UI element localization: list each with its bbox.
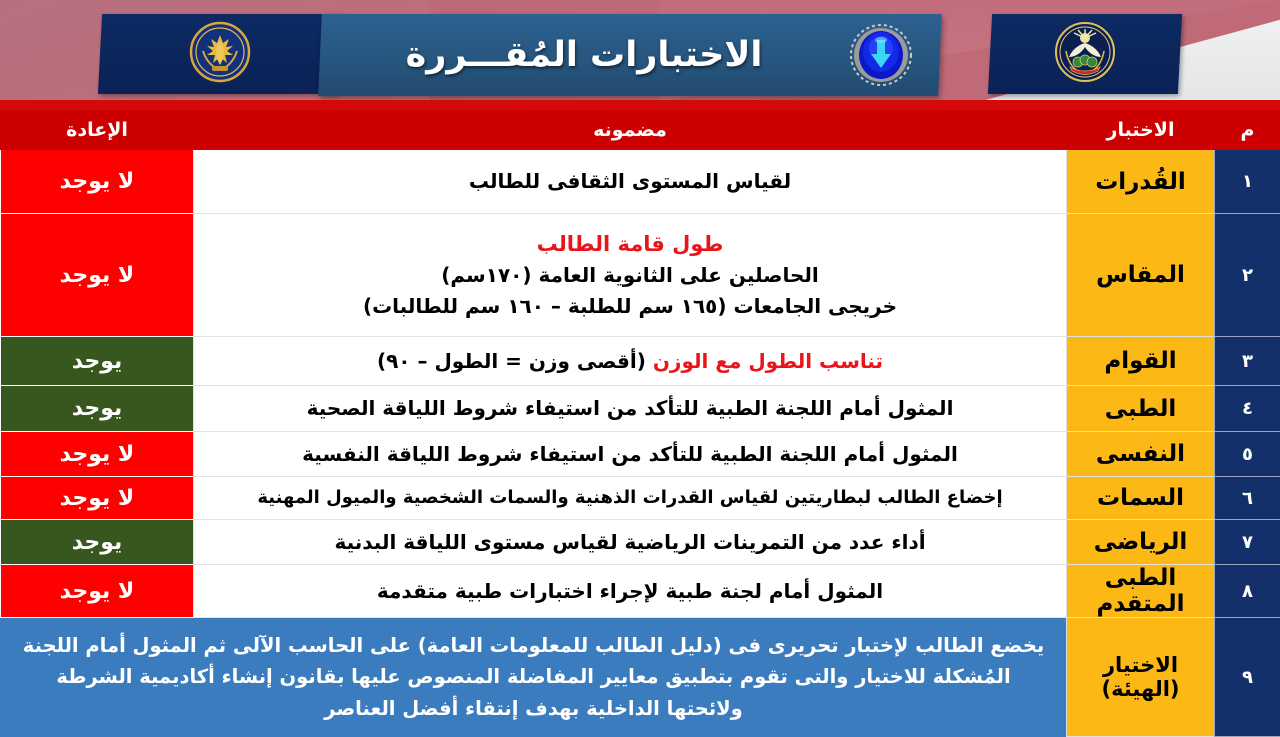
table-row: ٦ السمات إخضاع الطالب لبطاريتين لقياس ال… (1, 477, 1280, 520)
row-number: ٤ (1215, 386, 1280, 432)
column-header-exam: الاختبار (1067, 111, 1215, 150)
exam-content: لقياس المستوى الثقافى للطالب (194, 150, 1067, 214)
table-row: ١ القُدرات لقياس المستوى الثقافى للطالب … (1, 150, 1280, 214)
exam-name: القوام (1067, 337, 1215, 386)
exam-content: تناسب الطول مع الوزن (أقصى وزن = الطول –… (194, 337, 1067, 386)
row-number: ٨ (1215, 565, 1280, 618)
table-row: ٤ الطبى المثول أمام اللجنة الطبية للتأكد… (1, 386, 1280, 432)
row-number: ٦ (1215, 477, 1280, 520)
exam-content-line-2: الحاصلين على الثانوية العامة (١٧٠سم) (200, 260, 1060, 291)
table-row: ٨ الطبى المتقدم المثول أمام لجنة طبية لإ… (1, 565, 1280, 618)
exam-content-note: (أقصى وزن = الطول – ٩٠) (377, 349, 646, 373)
row-number: ٧ (1215, 520, 1280, 565)
exam-name: الطبى المتقدم (1067, 565, 1215, 618)
table-row: ٣ القوام تناسب الطول مع الوزن (أقصى وزن … (1, 337, 1280, 386)
column-header-content: مضمونه (194, 111, 1067, 150)
row-number: ٩ (1215, 618, 1280, 737)
exam-content-line-3: خريجى الجامعات (١٦٥ سم للطلبة – ١٦٠ سم ل… (200, 291, 1060, 322)
table-row: ٧ الرياضى أداء عدد من التمرينات الرياضية… (1, 520, 1280, 565)
ministry-of-interior-icon (1054, 21, 1116, 87)
exam-content: طول قامة الطالب الحاصلين على الثانوية ال… (194, 214, 1067, 337)
slide-root: الاختبارات المُقـــررة (0, 0, 1280, 720)
title-bar: الاختبارات المُقـــررة (318, 14, 942, 96)
row-number: ٣ (1215, 337, 1280, 386)
blue-circle-down-arrow-icon (850, 24, 912, 86)
repeat-status: يوجد (1, 337, 194, 386)
row-number: ١ (1215, 150, 1280, 214)
column-header-repeat: الإعادة (1, 111, 194, 150)
repeat-status: يوجد (1, 520, 194, 565)
page-title: الاختبارات المُقـــررة (348, 35, 850, 75)
exam-name: الطبى (1067, 386, 1215, 432)
exam-content-highlight: تناسب الطول مع الوزن (653, 349, 883, 373)
repeat-status: لا يوجد (1, 150, 194, 214)
table-row: ٩ الاختيار (الهيئة) يخضع الطالب لإختبار … (1, 618, 1280, 737)
repeat-status: لا يوجد (1, 477, 194, 520)
exam-content: أداء عدد من التمرينات الرياضية لقياس مست… (194, 520, 1067, 565)
repeat-status: لا يوجد (1, 432, 194, 477)
exam-content-line-1: طول قامة الطالب (200, 228, 1060, 261)
exam-content: المثول أمام لجنة طبية لإجراء اختبارات طب… (194, 565, 1067, 618)
exam-content: إخضاع الطالب لبطاريتين لقياس القدرات الذ… (194, 477, 1067, 520)
exam-name: النفسى (1067, 432, 1215, 477)
exam-content: يخضع الطالب لإختبار تحريرى فى (دليل الطا… (1, 618, 1067, 737)
exam-name: الاختيار (الهيئة) (1067, 618, 1215, 737)
repeat-status: لا يوجد (1, 214, 194, 337)
row-number: ٢ (1215, 214, 1280, 337)
repeat-status: يوجد (1, 386, 194, 432)
table-row: ٥ النفسى المثول أمام اللجنة الطبية للتأك… (1, 432, 1280, 477)
required-exams-table: م الاختبار مضمونه الإعادة ١ القُدرات لقي… (0, 110, 1280, 737)
right-emblem-panel (988, 14, 1182, 94)
exam-content: المثول أمام اللجنة الطبية للتأكد من استي… (194, 432, 1067, 477)
repeat-status: لا يوجد (1, 565, 194, 618)
column-header-number: م (1215, 111, 1280, 150)
exam-content: المثول أمام اللجنة الطبية للتأكد من استي… (194, 386, 1067, 432)
header-banner: الاختبارات المُقـــررة (0, 0, 1280, 110)
table-header-row: م الاختبار مضمونه الإعادة (1, 111, 1280, 150)
exam-name: المقاس (1067, 214, 1215, 337)
police-academy-eagle-icon (189, 21, 251, 87)
exam-name: القُدرات (1067, 150, 1215, 214)
exam-name: الرياضى (1067, 520, 1215, 565)
row-number: ٥ (1215, 432, 1280, 477)
table-row: ٢ المقاس طول قامة الطالب الحاصلين على ال… (1, 214, 1280, 337)
exam-name: السمات (1067, 477, 1215, 520)
left-emblem-panel (98, 14, 342, 94)
header-red-strip (0, 100, 1280, 110)
